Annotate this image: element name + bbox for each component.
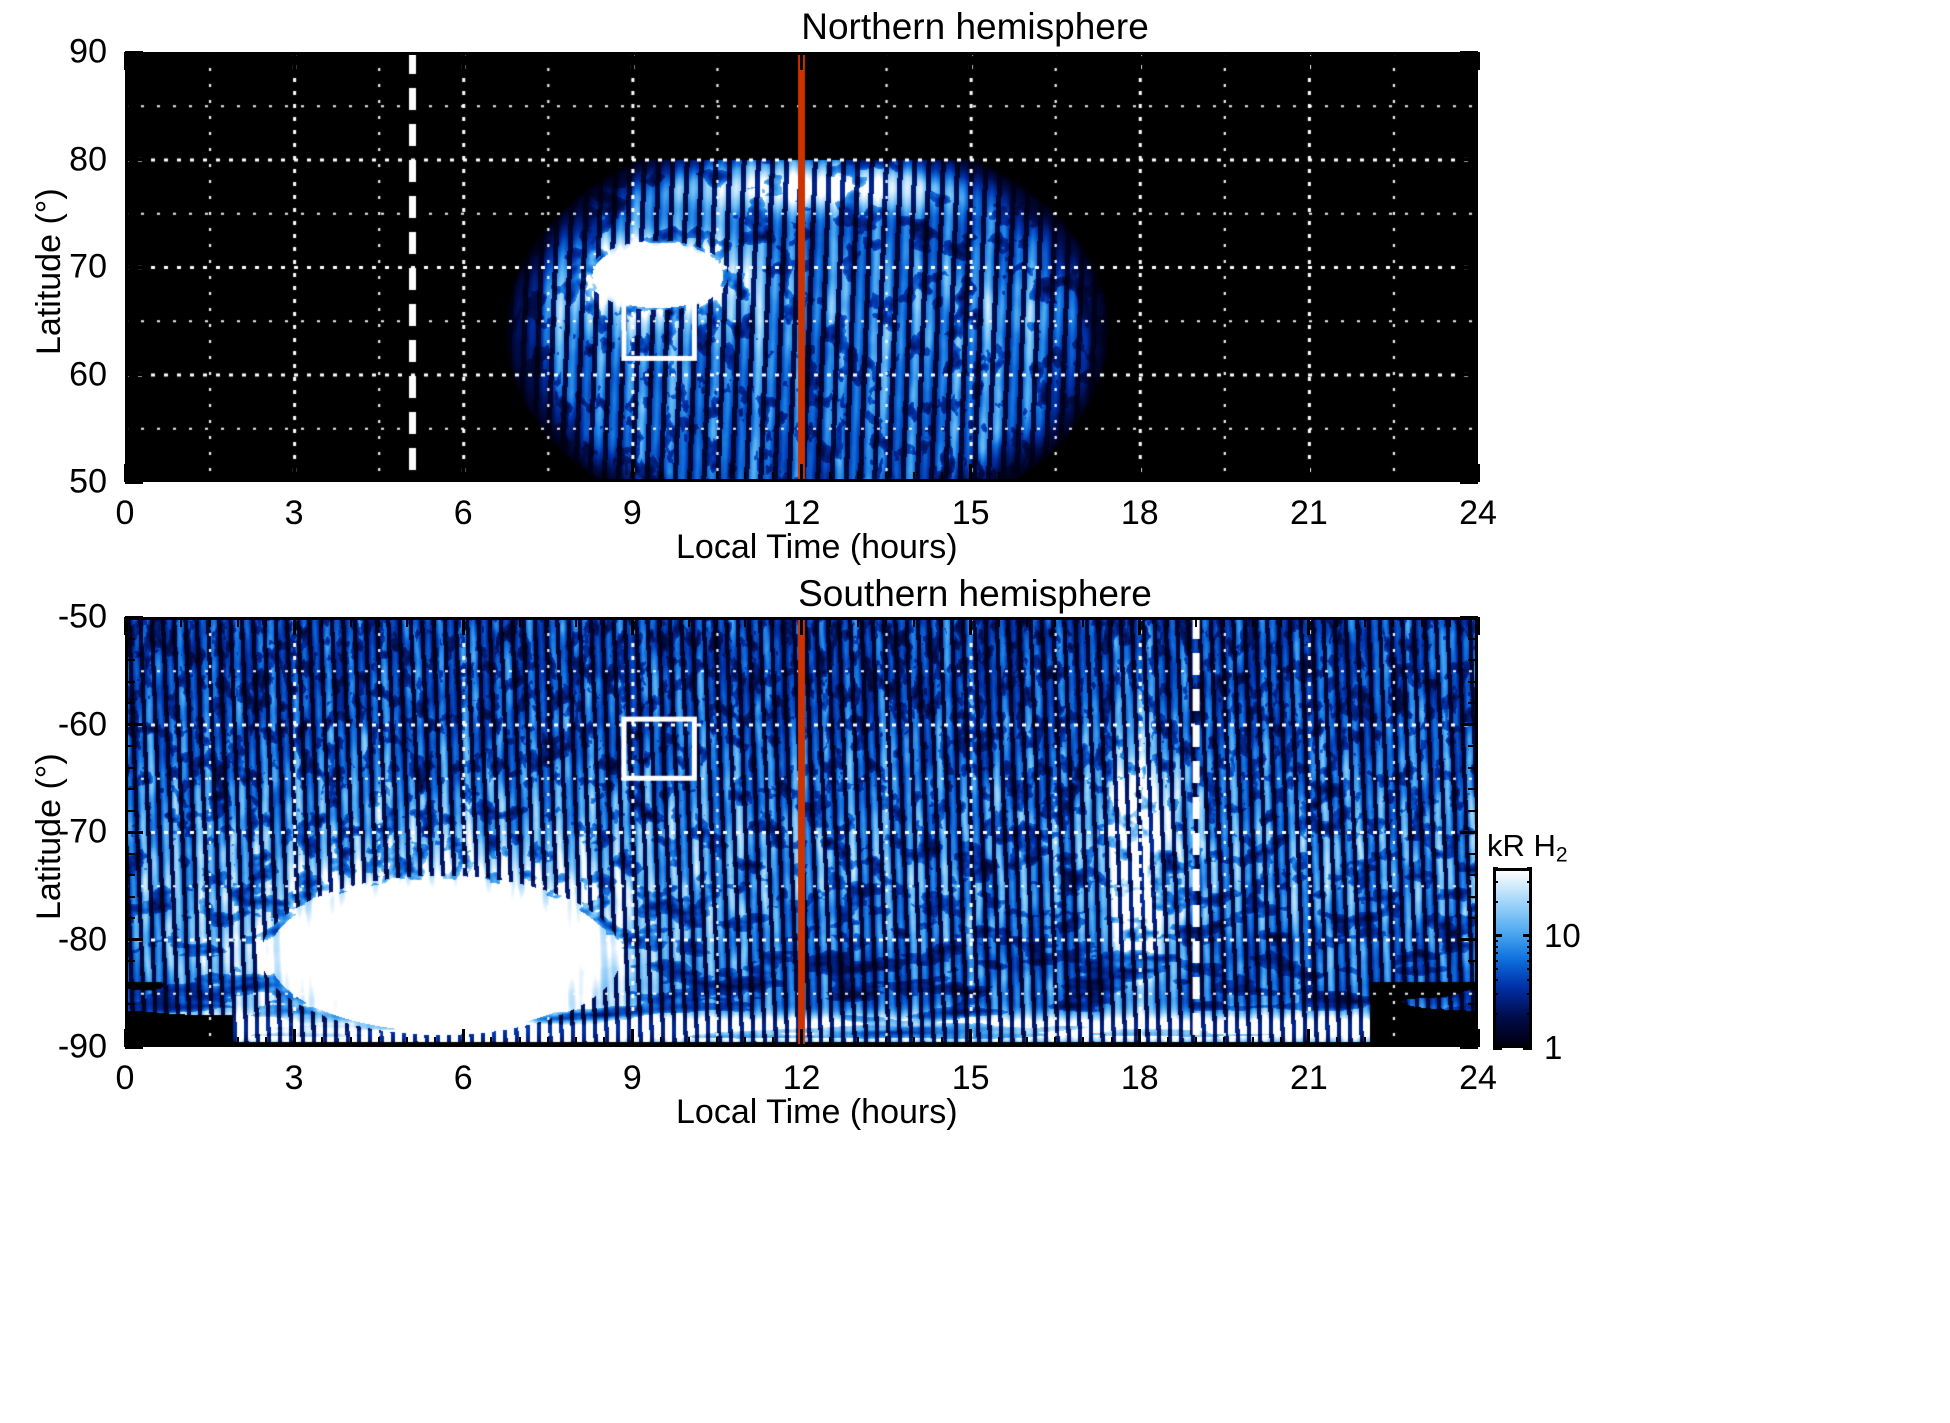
- y-axis-minor-tick: [125, 767, 135, 769]
- x-axis-minor-tick: [209, 1037, 211, 1047]
- x-axis-minor-tick: [913, 472, 915, 482]
- x-axis-minor-tick: [998, 1037, 1000, 1047]
- x-axis-minor-tick: [998, 472, 1000, 482]
- x-axis-minor-tick: [1026, 617, 1028, 627]
- x-axis-minor-tick: [885, 472, 887, 482]
- y-axis-minor-tick: [1468, 438, 1478, 440]
- y-axis-minor-tick: [125, 681, 135, 683]
- x-axis-minor-tick: [716, 472, 718, 482]
- x-axis-minor-tick: [1449, 52, 1451, 62]
- colorbar-tick: [1523, 1047, 1532, 1050]
- x-axis-minor-tick: [209, 617, 211, 627]
- x-axis-minor-tick: [406, 52, 408, 62]
- colorbar-minor-tick: [1527, 968, 1532, 970]
- x-axis-minor-tick: [180, 52, 182, 62]
- colorbar-minor-tick: [1527, 867, 1532, 869]
- x-axis-tick: [293, 1029, 296, 1047]
- colorbar-minor-tick: [1527, 901, 1532, 903]
- y-axis-minor-tick: [125, 137, 135, 139]
- y-axis-minor-tick: [125, 245, 135, 247]
- colorbar-minor-tick: [1527, 960, 1532, 962]
- x-axis-minor-tick: [1026, 1037, 1028, 1047]
- y-axis-minor-tick: [125, 917, 135, 919]
- x-axis-minor-tick: [1336, 472, 1338, 482]
- colorbar-minor-tick: [1493, 946, 1498, 948]
- colorbar-minor-tick: [1527, 1013, 1532, 1015]
- x-axis-minor-tick: [1392, 52, 1394, 62]
- y-axis-tick: [125, 723, 143, 726]
- heatmap-southern: [125, 617, 1478, 1047]
- y-axis-minor-tick: [1468, 874, 1478, 876]
- y-axis-minor-tick: [1468, 638, 1478, 640]
- y-axis-minor-tick: [125, 309, 135, 311]
- y-axis-minor-tick: [1468, 137, 1478, 139]
- y-axis-minor-tick: [1468, 245, 1478, 247]
- x-axis-minor-tick: [434, 52, 436, 62]
- x-axis-tick: [631, 617, 634, 635]
- colorbar-minor-tick: [1527, 993, 1532, 995]
- x-axis-minor-tick: [265, 1037, 267, 1047]
- x-axis-minor-tick: [1364, 617, 1366, 627]
- y-axis-minor-tick: [125, 982, 135, 984]
- x-axis-minor-tick: [885, 1037, 887, 1047]
- x-axis-tick-label: 12: [783, 1059, 821, 1098]
- colorbar-tick-label: 10: [1544, 917, 1581, 955]
- y-axis-tick: [125, 51, 143, 54]
- x-axis-minor-tick: [547, 617, 549, 627]
- x-axis-minor-tick: [519, 472, 521, 482]
- x-axis-minor-tick: [1167, 472, 1169, 482]
- colorbar-tick: [1523, 934, 1532, 937]
- y-axis-minor-tick: [125, 788, 135, 790]
- x-axis-minor-tick: [1421, 52, 1423, 62]
- y-axis-minor-tick: [125, 438, 135, 440]
- y-axis-minor-tick: [1468, 331, 1478, 333]
- x-axis-tick: [462, 52, 465, 70]
- colorbar: [1493, 868, 1532, 1048]
- x-axis-minor-tick: [406, 1037, 408, 1047]
- x-axis-minor-tick: [603, 52, 605, 62]
- y-axis-minor-tick: [125, 853, 135, 855]
- x-axis-minor-tick: [1195, 52, 1197, 62]
- x-axis-minor-tick: [1111, 617, 1113, 627]
- x-axis-minor-tick: [321, 472, 323, 482]
- x-axis-tick-label: 6: [454, 494, 473, 533]
- y-axis-tick-label: 80: [69, 140, 107, 179]
- y-axis-tick: [125, 266, 143, 269]
- x-axis-tick: [1477, 52, 1480, 70]
- x-axis-minor-tick: [744, 1037, 746, 1047]
- y-axis-minor-tick: [1468, 659, 1478, 661]
- x-axis-minor-tick: [660, 617, 662, 627]
- x-axis-minor-tick: [688, 1037, 690, 1047]
- x-axis-minor-tick: [1082, 52, 1084, 62]
- y-axis-minor-tick: [1468, 745, 1478, 747]
- x-axis-minor-tick: [660, 1037, 662, 1047]
- x-axis-minor-tick: [1082, 617, 1084, 627]
- x-axis-minor-tick: [1223, 617, 1225, 627]
- x-axis-tick-label: 24: [1459, 494, 1497, 533]
- x-axis-minor-tick: [547, 472, 549, 482]
- y-axis-minor-tick: [1468, 288, 1478, 290]
- x-axis-tick-label: 12: [783, 494, 821, 533]
- x-axis-minor-tick: [1421, 1037, 1423, 1047]
- x-axis-minor-tick: [772, 52, 774, 62]
- y-axis-minor-tick: [1468, 982, 1478, 984]
- x-axis-minor-tick: [378, 617, 380, 627]
- y-axis-minor-tick: [1468, 73, 1478, 75]
- x-axis-tick: [1307, 1029, 1310, 1047]
- y-axis-minor-tick: [125, 94, 135, 96]
- x-axis-minor-tick: [716, 52, 718, 62]
- x-axis-minor-tick: [378, 472, 380, 482]
- y-axis-minor-tick: [1468, 767, 1478, 769]
- x-axis-minor-tick: [575, 1037, 577, 1047]
- y-axis-minor-tick: [125, 810, 135, 812]
- y-axis-minor-tick: [1468, 460, 1478, 462]
- y-axis-minor-tick: [1468, 702, 1478, 704]
- x-axis-minor-tick: [265, 617, 267, 627]
- x-axis-minor-tick: [688, 617, 690, 627]
- x-axis-minor-tick: [406, 617, 408, 627]
- y-axis-minor-tick: [125, 288, 135, 290]
- x-axis-minor-tick: [603, 1037, 605, 1047]
- x-axis-minor-tick: [1195, 472, 1197, 482]
- x-axis-tick: [1307, 617, 1310, 635]
- x-axis-minor-tick: [885, 617, 887, 627]
- x-axis-tick: [631, 52, 634, 70]
- y-axis-minor-tick: [1468, 853, 1478, 855]
- x-axis-minor-tick: [1280, 1037, 1282, 1047]
- x-axis-minor-tick: [716, 1037, 718, 1047]
- x-axis-minor-tick: [1336, 52, 1338, 62]
- x-axis-minor-tick: [490, 1037, 492, 1047]
- x-axis-tick-label: 15: [952, 1059, 990, 1098]
- y-axis-minor-tick: [125, 116, 135, 118]
- x-axis-minor-tick: [321, 1037, 323, 1047]
- colorbar-minor-tick: [1493, 940, 1498, 942]
- x-axis-tick: [1477, 1029, 1480, 1047]
- y-axis-tick: [1460, 938, 1478, 941]
- x-axis-minor-tick: [575, 52, 577, 62]
- x-axis-tick: [462, 1029, 465, 1047]
- x-axis-minor-tick: [941, 617, 943, 627]
- x-axis-minor-tick: [209, 472, 211, 482]
- y-axis-tick: [1460, 831, 1478, 834]
- colorbar-minor-tick: [1493, 952, 1498, 954]
- y-axis-minor-tick: [125, 1003, 135, 1005]
- x-axis-minor-tick: [350, 472, 352, 482]
- x-axis-minor-tick: [1223, 52, 1225, 62]
- y-axis-tick: [1460, 481, 1478, 484]
- colorbar-minor-tick: [1493, 979, 1498, 981]
- x-axis-tick-label: 18: [1121, 1059, 1159, 1098]
- x-axis-tick: [1307, 52, 1310, 70]
- x-axis-minor-tick: [857, 1037, 859, 1047]
- y-axis-minor-tick: [1468, 917, 1478, 919]
- x-axis-minor-tick: [406, 472, 408, 482]
- y-axis-tick: [1460, 266, 1478, 269]
- x-axis-minor-tick: [941, 1037, 943, 1047]
- y-axis-tick-label: -90: [58, 1028, 107, 1067]
- x-axis-minor-tick: [519, 617, 521, 627]
- x-axis-minor-tick: [265, 472, 267, 482]
- x-axis-tick-label: 21: [1290, 494, 1328, 533]
- x-axis-tick: [124, 617, 127, 635]
- y-axis-minor-tick: [125, 1025, 135, 1027]
- x-axis-minor-tick: [1026, 52, 1028, 62]
- x-axis-tick: [800, 1029, 803, 1047]
- colorbar-minor-tick: [1527, 979, 1532, 981]
- panel-southern-hemisphere: Southern hemisphere Latitude (°) Local T…: [0, 565, 1950, 1423]
- x-axis-tick: [1138, 52, 1141, 70]
- x-axis-minor-tick: [1364, 52, 1366, 62]
- x-axis-minor-tick: [1195, 617, 1197, 627]
- x-axis-minor-tick: [744, 52, 746, 62]
- x-axis-tick: [1307, 464, 1310, 482]
- x-axis-tick: [969, 617, 972, 635]
- y-axis-tick: [125, 831, 143, 834]
- x-axis-minor-tick: [1449, 472, 1451, 482]
- y-axis-minor-tick: [1468, 116, 1478, 118]
- x-axis-minor-tick: [1167, 617, 1169, 627]
- x-axis-minor-tick: [434, 1037, 436, 1047]
- x-axis-minor-tick: [1223, 472, 1225, 482]
- x-axis-minor-tick: [941, 52, 943, 62]
- x-axis-minor-tick: [1111, 52, 1113, 62]
- y-axis-minor-tick: [125, 73, 135, 75]
- x-axis-minor-tick: [519, 1037, 521, 1047]
- x-axis-tick: [969, 52, 972, 70]
- x-axis-minor-tick: [575, 617, 577, 627]
- x-axis-minor-tick: [829, 1037, 831, 1047]
- y-axis-tick-label: -80: [58, 920, 107, 959]
- x-axis-minor-tick: [1392, 617, 1394, 627]
- x-axis-minor-tick: [378, 52, 380, 62]
- x-axis-minor-tick: [547, 1037, 549, 1047]
- y-axis-tick: [125, 1046, 143, 1049]
- colorbar-tick-label: 1: [1544, 1029, 1562, 1067]
- x-axis-tick: [462, 617, 465, 635]
- x-axis-minor-tick: [1280, 617, 1282, 627]
- x-axis-minor-tick: [265, 52, 267, 62]
- x-axis-minor-tick: [857, 472, 859, 482]
- x-axis-minor-tick: [1252, 52, 1254, 62]
- colorbar-minor-tick: [1493, 881, 1498, 883]
- x-axis-tick: [1138, 1029, 1141, 1047]
- x-axis-minor-tick: [152, 52, 154, 62]
- x-axis-minor-tick: [1449, 617, 1451, 627]
- x-axis-minor-tick: [575, 472, 577, 482]
- y-axis-minor-tick: [1468, 352, 1478, 354]
- x-axis-minor-tick: [378, 1037, 380, 1047]
- x-axis-minor-tick: [688, 472, 690, 482]
- y-axis-minor-tick: [125, 460, 135, 462]
- x-axis-minor-tick: [1082, 472, 1084, 482]
- x-axis-minor-tick: [1223, 1037, 1225, 1047]
- x-axis-tick: [1138, 617, 1141, 635]
- x-axis-minor-tick: [1449, 1037, 1451, 1047]
- x-axis-minor-tick: [1082, 1037, 1084, 1047]
- x-axis-minor-tick: [1280, 472, 1282, 482]
- x-axis-minor-tick: [180, 1037, 182, 1047]
- y-axis-minor-tick: [125, 874, 135, 876]
- y-axis-minor-tick: [125, 395, 135, 397]
- colorbar-minor-tick: [1527, 940, 1532, 942]
- colorbar-tick: [1493, 1047, 1502, 1050]
- x-axis-minor-tick: [321, 52, 323, 62]
- x-axis-minor-tick: [1336, 617, 1338, 627]
- x-axis-minor-tick: [660, 472, 662, 482]
- colorbar-minor-tick: [1493, 993, 1498, 995]
- x-axis-minor-tick: [237, 617, 239, 627]
- y-axis-minor-tick: [1468, 788, 1478, 790]
- y-axis-tick: [125, 481, 143, 484]
- y-axis-tick: [1460, 373, 1478, 376]
- x-axis-minor-tick: [1167, 52, 1169, 62]
- y-axis-tick: [1460, 158, 1478, 161]
- x-axis-tick-label: 3: [285, 1059, 304, 1098]
- y-axis-minor-tick: [1468, 960, 1478, 962]
- x-axis-minor-tick: [829, 617, 831, 627]
- y-axis-tick: [125, 938, 143, 941]
- x-axis-minor-tick: [152, 472, 154, 482]
- y-axis-tick: [1460, 616, 1478, 619]
- x-axis-minor-tick: [152, 617, 154, 627]
- y-axis-minor-tick: [125, 202, 135, 204]
- x-axis-tick-label: 24: [1459, 1059, 1497, 1098]
- x-axis-minor-tick: [237, 52, 239, 62]
- y-axis-minor-tick: [125, 417, 135, 419]
- x-axis-tick-label: 0: [116, 1059, 135, 1098]
- y-axis-minor-tick: [1468, 810, 1478, 812]
- colorbar-minor-tick: [1527, 952, 1532, 954]
- x-axis-tick: [124, 464, 127, 482]
- x-axis-minor-tick: [885, 52, 887, 62]
- y-axis-minor-tick: [1468, 395, 1478, 397]
- x-axis-minor-tick: [434, 472, 436, 482]
- y-axis-minor-tick: [125, 960, 135, 962]
- colorbar-minor-tick: [1493, 968, 1498, 970]
- x-axis-minor-tick: [490, 472, 492, 482]
- x-axis-tick: [631, 464, 634, 482]
- y-axis-minor-tick: [125, 223, 135, 225]
- x-axis-tick: [293, 617, 296, 635]
- x-axis-minor-tick: [1252, 1037, 1254, 1047]
- x-axis-minor-tick: [913, 617, 915, 627]
- y-axis-tick: [125, 616, 143, 619]
- x-axis-minor-tick: [829, 472, 831, 482]
- y-axis-minor-tick: [1468, 1025, 1478, 1027]
- x-axis-minor-tick: [1364, 472, 1366, 482]
- panel-title-northern: Northern hemisphere: [0, 6, 1950, 48]
- x-axis-minor-tick: [772, 617, 774, 627]
- x-axis-minor-tick: [321, 617, 323, 627]
- colorbar-minor-tick: [1493, 960, 1498, 962]
- x-axis-tick: [800, 617, 803, 635]
- x-axis-minor-tick: [237, 1037, 239, 1047]
- y-axis-tick-label: -70: [58, 813, 107, 852]
- x-axis-minor-tick: [1167, 1037, 1169, 1047]
- x-axis-minor-tick: [998, 52, 1000, 62]
- x-axis-tick: [800, 464, 803, 482]
- x-axis-tick: [1477, 617, 1480, 635]
- y-axis-minor-tick: [1468, 223, 1478, 225]
- x-axis-tick: [124, 1029, 127, 1047]
- colorbar-minor-tick: [1493, 1013, 1498, 1015]
- heatmap-northern: [125, 52, 1478, 482]
- y-axis-minor-tick: [1468, 180, 1478, 182]
- x-axis-minor-tick: [603, 472, 605, 482]
- x-axis-minor-tick: [434, 617, 436, 627]
- x-axis-minor-tick: [1364, 1037, 1366, 1047]
- x-axis-minor-tick: [350, 1037, 352, 1047]
- y-axis-minor-tick: [1468, 896, 1478, 898]
- y-axis-minor-tick: [125, 702, 135, 704]
- colorbar-title: kR H2: [1487, 828, 1568, 867]
- x-axis-tick: [1477, 464, 1480, 482]
- x-axis-minor-tick: [603, 617, 605, 627]
- x-axis-tick-label: 0: [116, 494, 135, 533]
- x-axis-minor-tick: [1252, 617, 1254, 627]
- x-axis-minor-tick: [998, 617, 1000, 627]
- y-axis-minor-tick: [125, 745, 135, 747]
- x-axis-tick-label: 6: [454, 1059, 473, 1098]
- x-axis-minor-tick: [688, 52, 690, 62]
- x-axis-tick: [293, 52, 296, 70]
- x-axis-tick: [800, 52, 803, 70]
- y-axis-tick: [125, 373, 143, 376]
- y-axis-minor-tick: [1468, 94, 1478, 96]
- y-axis-minor-tick: [125, 638, 135, 640]
- y-axis-tick: [1460, 723, 1478, 726]
- x-axis-minor-tick: [547, 52, 549, 62]
- panel-northern-hemisphere: Northern hemisphere Latitude (°) Local T…: [0, 0, 1950, 565]
- y-axis-minor-tick: [125, 896, 135, 898]
- x-axis-minor-tick: [857, 52, 859, 62]
- x-axis-tick: [1138, 464, 1141, 482]
- x-axis-tick-label: 9: [623, 1059, 642, 1098]
- x-axis-label-northern: Local Time (hours): [676, 528, 958, 567]
- x-axis-minor-tick: [1421, 472, 1423, 482]
- colorbar-minor-tick: [1493, 867, 1498, 869]
- x-axis-minor-tick: [152, 1037, 154, 1047]
- x-axis-tick: [969, 1029, 972, 1047]
- y-axis-tick: [125, 158, 143, 161]
- y-axis-tick-label: 50: [69, 463, 107, 502]
- y-axis-tick-label: 60: [69, 355, 107, 394]
- x-axis-minor-tick: [1336, 1037, 1338, 1047]
- x-axis-minor-tick: [1054, 1037, 1056, 1047]
- y-axis-minor-tick: [1468, 309, 1478, 311]
- x-axis-label-southern: Local Time (hours): [676, 1093, 958, 1132]
- y-axis-tick-label: -50: [58, 598, 107, 637]
- x-axis-minor-tick: [1054, 472, 1056, 482]
- x-axis-minor-tick: [490, 617, 492, 627]
- x-axis-tick: [462, 464, 465, 482]
- x-axis-minor-tick: [1392, 472, 1394, 482]
- colorbar-tick: [1493, 934, 1502, 937]
- x-axis-minor-tick: [829, 52, 831, 62]
- x-axis-tick-label: 21: [1290, 1059, 1328, 1098]
- x-axis-minor-tick: [1026, 472, 1028, 482]
- x-axis-minor-tick: [913, 1037, 915, 1047]
- x-axis-tick: [124, 52, 127, 70]
- x-axis-minor-tick: [857, 617, 859, 627]
- colorbar-minor-tick: [1493, 901, 1498, 903]
- x-axis-minor-tick: [350, 617, 352, 627]
- x-axis-minor-tick: [180, 617, 182, 627]
